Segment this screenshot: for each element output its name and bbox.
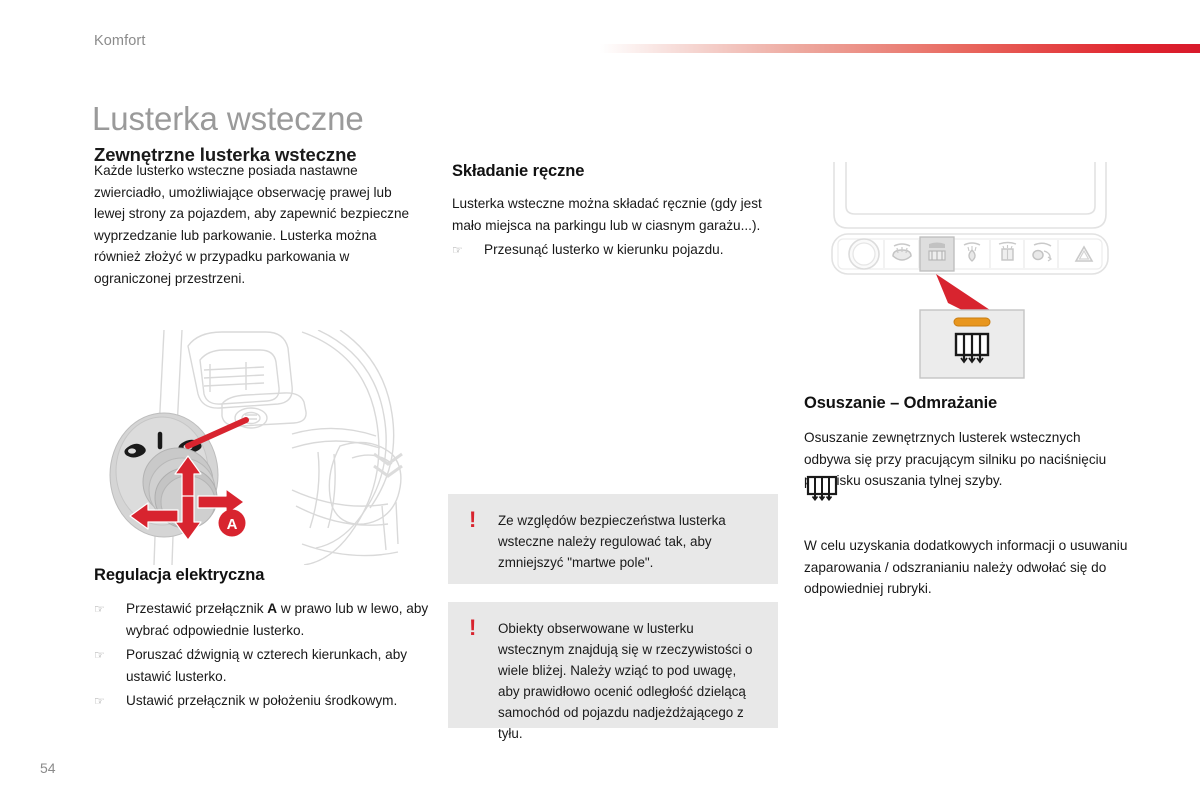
pointing-hand-icon: ☞ [452, 240, 463, 262]
chapter-label: Komfort [94, 33, 145, 49]
list-item: ☞ Poruszać dźwignią w czterech kierunkac… [94, 644, 434, 687]
demist-extra-text: W celu uzyskania dodatkowych informacji … [804, 535, 1128, 600]
list-item-label: Przesunąć lusterko w kierunku pojazdu. [484, 242, 724, 257]
pointing-hand-icon: ☞ [94, 599, 105, 621]
switch-label-a: A [267, 601, 277, 616]
mirror-adjust-switch-illustration: A [96, 330, 436, 565]
center-console-illustration [824, 162, 1116, 382]
list-item: ☞ Ustawić przełącznik w położeniu środko… [94, 690, 434, 712]
rear-defrost-button [920, 237, 954, 271]
warning-exclamation-icon: ! [469, 617, 476, 639]
list-item: ☞ Przestawić przełącznik A w prawo lub w… [94, 598, 434, 641]
electric-adjust-block: Regulacja elektryczna ☞ Przestawić przeł… [94, 566, 434, 712]
demist-text: Osuszanie zewnętrznych lusterek wsteczny… [804, 427, 1128, 492]
warning-box-blindspot: ! Ze względów bezpieczeństwa lusterka ws… [448, 494, 778, 584]
callout-arrow [936, 274, 996, 314]
intro-paragraph: Każde lusterko wsteczne posiada nastawne… [94, 160, 424, 289]
callout-a-label: A [227, 516, 238, 533]
warning-exclamation-icon: ! [469, 509, 476, 531]
electric-adjust-heading: Regulacja elektryczna [94, 566, 434, 585]
intro-paragraph-block: Każde lusterko wsteczne posiada nastawne… [94, 160, 424, 289]
list-item-label: Przestawić przełącznik A w prawo lub w l… [126, 601, 428, 638]
pointing-hand-icon: ☞ [94, 645, 105, 667]
warning-text: Obiekty obserwowane w lusterku wstecznym… [498, 618, 760, 744]
list-item-label: Ustawić przełącznik w położeniu środkowy… [126, 693, 397, 708]
manual-fold-block: Składanie ręczne Lusterka wsteczne można… [452, 162, 782, 261]
manual-fold-heading: Składanie ręczne [452, 162, 782, 181]
header-accent-bar [600, 44, 1200, 53]
callout-a: A [219, 510, 246, 537]
demist-row: Osuszanie zewnętrznych lusterek wsteczny… [804, 427, 1128, 519]
demist-block: Osuszanie – Odmrażanie Osuszanie zewnętr… [804, 394, 1128, 613]
manual-fold-body: Lusterka wsteczne można składać ręcznie … [452, 193, 782, 236]
manual-fold-bullet-list: ☞ Przesunąć lusterko w kierunku pojazdu. [452, 239, 782, 261]
rear-defrost-icon [804, 473, 840, 506]
warning-box-distance: ! Obiekty obserwowane w lusterku wsteczn… [448, 602, 778, 728]
demist-heading: Osuszanie – Odmrażanie [804, 394, 1128, 413]
rotary-knob [849, 239, 879, 269]
page-number: 54 [40, 760, 56, 776]
pointing-hand-icon: ☞ [94, 691, 105, 713]
list-item-label: Poruszać dźwignią w czterech kierunkach,… [126, 647, 407, 684]
warning-text: Ze względów bezpieczeństwa lusterka wste… [498, 510, 760, 573]
electric-adjust-bullet-list: ☞ Przestawić przełącznik A w prawo lub w… [94, 598, 434, 712]
list-item: ☞ Przesunąć lusterko w kierunku pojazdu. [452, 239, 782, 261]
page-title: Lusterka wsteczne [92, 100, 364, 138]
rear-defrost-button-zoom [920, 310, 1024, 378]
